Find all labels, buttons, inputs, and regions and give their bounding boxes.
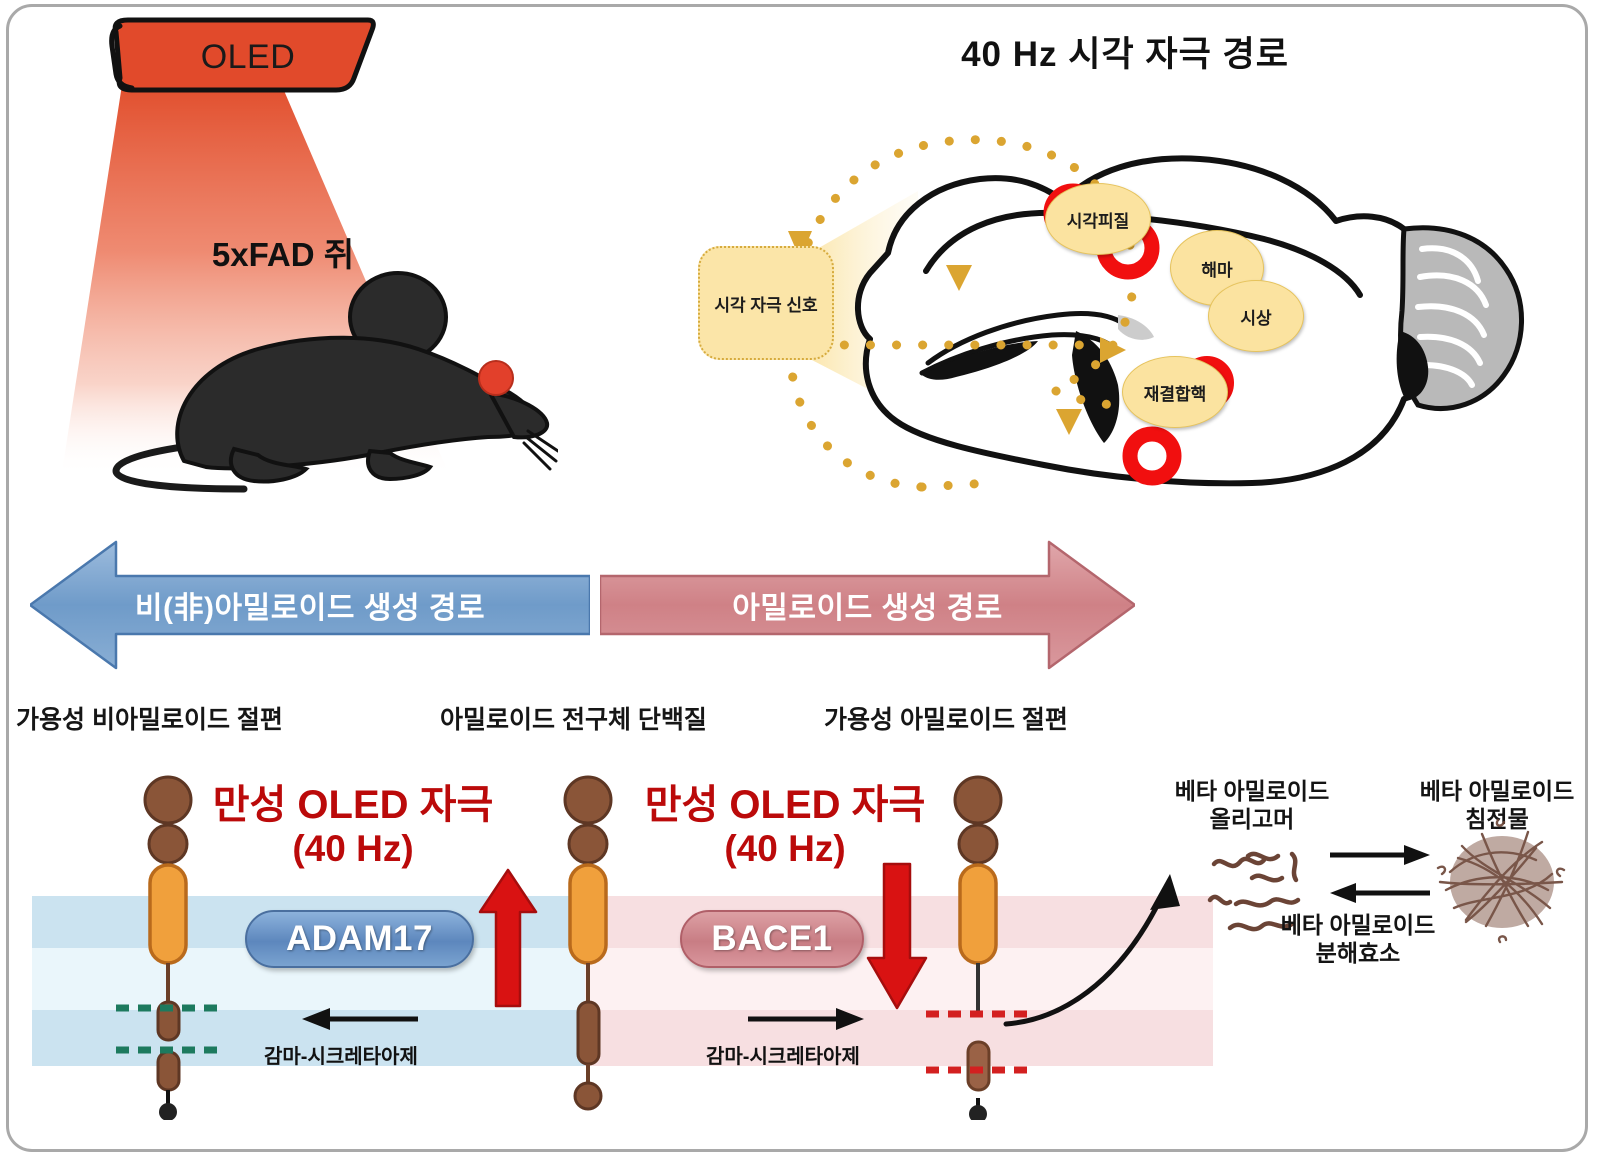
panel-brain-pathway: 40 Hz 시각 자극 경로 [660, 8, 1590, 498]
gamma-cleavage-dashes-left [112, 1000, 222, 1060]
brain-region-nucleus-reuniens: 재결합핵 [1122, 356, 1228, 428]
enzyme-label: BACE1 [711, 919, 832, 959]
aggregation-reverse-arrow-icon [1328, 880, 1432, 906]
aggregation-forward-arrow-icon [1328, 842, 1432, 868]
figure-root: OLED 5xFAD 쥐 40 Hz 시각 자극 경로 [0, 0, 1600, 1160]
oled-device-label: OLED [148, 38, 348, 77]
release-curved-arrow-icon [1000, 854, 1210, 1034]
gamma-secretase-arrow-left-icon [300, 1006, 420, 1032]
enzyme-adam17[interactable]: ADAM17 [245, 910, 474, 968]
panel-oled-stimulation: OLED 5xFAD 쥐 [28, 10, 548, 490]
pathway-arrow-non-amyloidogenic: 비(非)아밀로이드 생성 경로 [30, 540, 590, 670]
stimulation-text-left: 만성 OLED 자극 (40 Hz) [188, 782, 518, 871]
brain-region-label: 해마 [1201, 256, 1232, 281]
label-app-precursor: 아밀로이드 전구체 단백질 [440, 700, 707, 736]
brain-region-thalamus: 시상 [1208, 280, 1304, 352]
right-arrow-shape [600, 540, 1135, 670]
brain-region-label: 시상 [1240, 304, 1271, 329]
label-soluble-non-amyloid: 가용성 비아밀로이드 절편 [16, 700, 283, 736]
stimulation-line2: (40 Hz) [188, 828, 518, 871]
brain-region-label: 재결합핵 [1144, 380, 1207, 405]
label-soluble-amyloid: 가용성 아밀로이드 절편 [824, 700, 1068, 736]
gamma-secretase-label-left: 감마-시크레타아제 [264, 1040, 418, 1069]
stimulation-line2: (40 Hz) [620, 828, 950, 871]
enzyme-bace1[interactable]: BACE1 [680, 910, 864, 968]
stimulation-line1: 만성 OLED 자극 [620, 782, 950, 828]
brain-region-label: 시각피질 [1067, 207, 1130, 232]
upregulation-arrow-icon [478, 868, 538, 1008]
mouse-silhouette-icon [58, 265, 558, 495]
left-arrow-shape [30, 540, 590, 670]
brain-region-visual-cortex: 시각피질 [1045, 183, 1151, 255]
enzyme-label: ADAM17 [286, 919, 433, 959]
pathway-arrow-amyloidogenic: 아밀로이드 생성 경로 [600, 540, 1135, 670]
visual-stimulus-signal-box: 시각 자극 신호 [698, 246, 834, 360]
gamma-secretase-arrow-right-icon [746, 1006, 866, 1032]
downregulation-arrow-icon [866, 862, 928, 1010]
stimulation-text-right: 만성 OLED 자극 (40 Hz) [620, 782, 950, 871]
signal-box-label: 시각 자극 신호 [714, 291, 817, 316]
stimulation-line1: 만성 OLED 자극 [188, 782, 518, 828]
gamma-secretase-label-right: 감마-시크레타아제 [706, 1040, 860, 1069]
label-amyloid-degrading-enzyme: 베타 아밀로이드 분해효소 [1248, 912, 1468, 967]
